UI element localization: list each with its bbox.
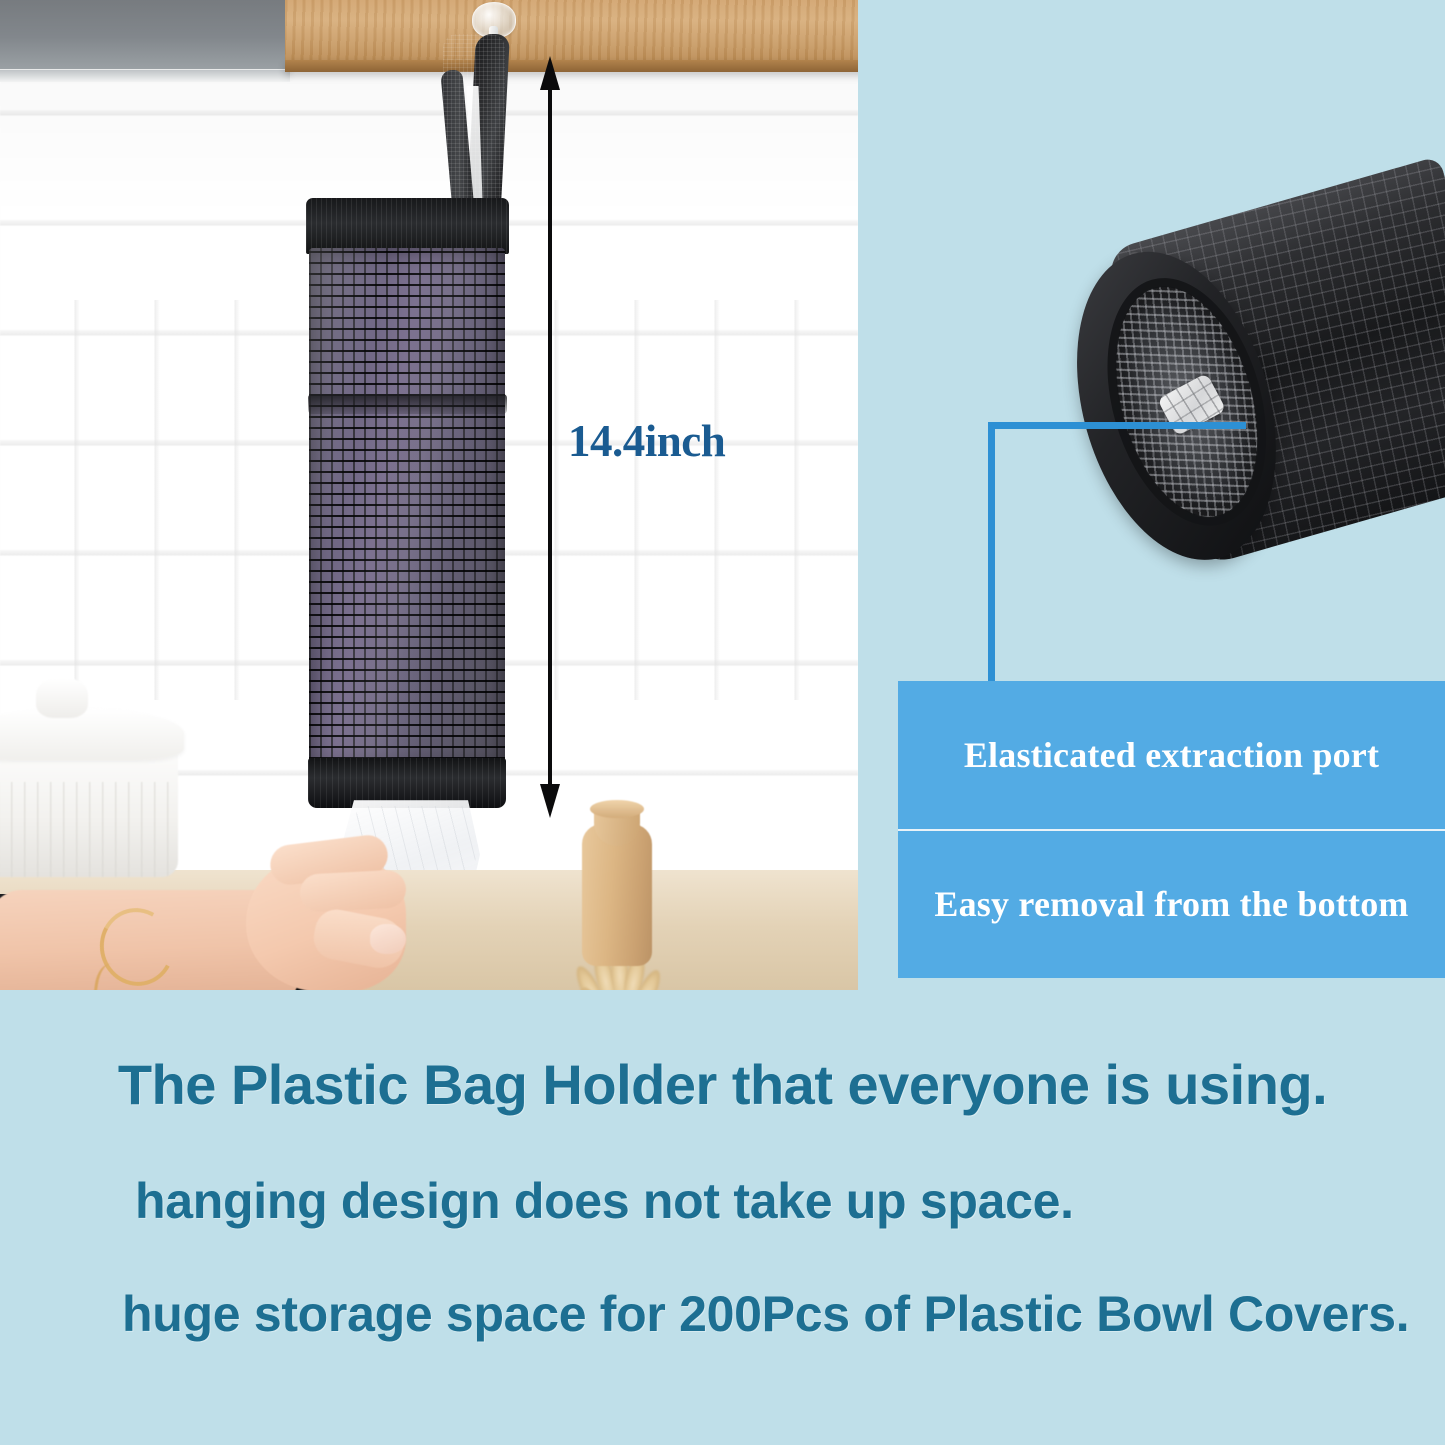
callout-easy-removal-label: Easy removal from the bottom xyxy=(898,883,1445,925)
bag-top-collar xyxy=(306,198,509,254)
headline-line-1: The Plastic Bag Holder that everyone is … xyxy=(118,1052,1327,1117)
pot-lid xyxy=(0,708,184,760)
pampas-grass-vase xyxy=(568,790,664,966)
leader-line-vertical xyxy=(988,422,995,684)
mesh-bag-holder xyxy=(306,198,509,816)
bag-fold-crease xyxy=(308,394,507,414)
callout-group: Elasticated extraction port Easy removal… xyxy=(898,681,1445,978)
vase-rim xyxy=(590,800,644,818)
dimension-line xyxy=(548,66,552,808)
range-hood-edge xyxy=(0,70,290,82)
marketing-text-block: The Plastic Bag Holder that everyone is … xyxy=(0,990,1445,1445)
range-hood xyxy=(0,0,290,72)
marketing-image-canvas: 14.4inch Elasticated extraction port Eas… xyxy=(0,0,1445,1445)
hand-pulling-bag xyxy=(118,838,418,990)
pot-lid-knob xyxy=(36,678,88,718)
leader-line-horizontal xyxy=(988,422,1246,429)
wood-grain-texture xyxy=(285,0,858,66)
cabinet-bottom-edge xyxy=(285,60,858,72)
left-product-photo: 14.4inch xyxy=(0,0,858,990)
mesh-tube-closeup xyxy=(1032,146,1445,665)
arrow-head-down-icon xyxy=(540,784,560,818)
headline-line-2: hanging design does not take up space. xyxy=(135,1172,1074,1230)
middle-finger xyxy=(299,869,407,912)
strap-mesh-texture xyxy=(443,34,505,224)
bag-sheen xyxy=(309,248,505,770)
dimension-label: 14.4inch xyxy=(568,415,725,467)
thumbnail xyxy=(370,924,406,954)
headline-line-3: huge storage space for 200Pcs of Plastic… xyxy=(122,1285,1409,1343)
callout-extraction-port-label: Elasticated extraction port xyxy=(898,734,1445,776)
dimension-arrow xyxy=(537,56,563,818)
wood-cabinet xyxy=(285,0,858,66)
callout-easy-removal: Easy removal from the bottom xyxy=(898,829,1445,977)
callout-extraction-port: Elasticated extraction port xyxy=(898,681,1445,829)
hanging-strap xyxy=(443,34,505,224)
